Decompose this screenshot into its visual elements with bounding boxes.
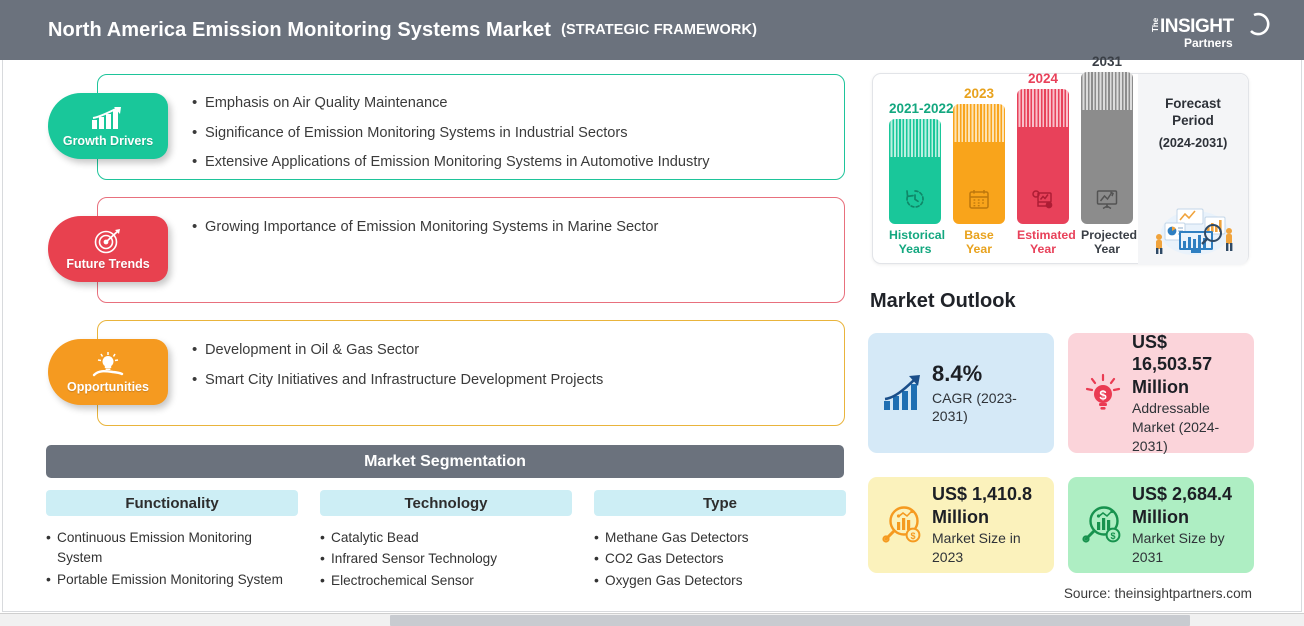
- chart-year-label: 2021-2022: [889, 101, 941, 116]
- future-trends-list: Growing Importance of Emission Monitorin…: [192, 219, 658, 249]
- bar-solid: [953, 142, 1005, 224]
- addressable-market-label: Addressable Market (2024-2031): [1132, 399, 1242, 455]
- svg-text:INSIGHT: INSIGHT: [1160, 16, 1234, 37]
- svg-text:$: $: [1099, 388, 1107, 403]
- clock-history-icon: [903, 187, 927, 216]
- segment-items: Catalytic Bead Infrared Sensor Technolog…: [320, 528, 572, 591]
- svg-text:$: $: [1110, 531, 1115, 541]
- future-trends-box: [97, 197, 845, 303]
- magnifier-bar-chart-dollar-icon: $: [880, 505, 926, 545]
- forecast-title-line2: Period: [1172, 113, 1214, 128]
- infographic-page: North America Emission Monitoring System…: [0, 0, 1304, 626]
- forecast-period-panel: Forecast Period (2024-2031): [1138, 74, 1248, 265]
- bar-stripe: [1081, 72, 1133, 110]
- forecast-range: (2024-2031): [1159, 136, 1228, 150]
- market-size-2031-card[interactable]: $ US$ 2,684.4 Million Market Size by 203…: [1068, 477, 1254, 573]
- badge-label: Opportunities: [67, 380, 149, 394]
- segmentation-title: Market Segmentation: [364, 453, 526, 471]
- bar-solid: [1081, 110, 1133, 224]
- segment-items: Continuous Emission Monitoring System Po…: [46, 528, 298, 590]
- chart-year-label: 2024: [1017, 71, 1069, 86]
- list-item: Methane Gas Detectors: [594, 528, 846, 548]
- list-item: CO2 Gas Detectors: [594, 549, 846, 569]
- chart-bars: 2021-2022 HistoricalYears: [883, 74, 1131, 265]
- bar-chart-growth-icon: [90, 105, 126, 131]
- cagr-card[interactable]: 8.4% CAGR (2023-2031): [868, 333, 1054, 453]
- chart-year-label: 2031: [1081, 54, 1133, 69]
- list-item: Extensive Applications of Emission Monit…: [192, 154, 710, 172]
- market-size-2031-value: US$ 2,684.4 Million: [1132, 484, 1232, 527]
- chart-bar-historical: 2021-2022 HistoricalYears: [889, 101, 941, 257]
- data-analytics-illustration: [1143, 187, 1243, 259]
- badge-label: Future Trends: [66, 257, 149, 271]
- list-item: Smart City Initiatives and Infrastructur…: [192, 372, 603, 390]
- magnifier-bar-chart-dollar-icon: $: [1080, 505, 1126, 545]
- chart-category-label: HistoricalYears: [889, 229, 941, 257]
- list-item: Emphasis on Air Quality Maintenance: [192, 95, 710, 113]
- growth-arrow-chart-icon: [880, 374, 926, 412]
- badge-growth-drivers[interactable]: Growth Drivers: [48, 93, 168, 159]
- segment-header-label: Functionality: [125, 495, 218, 512]
- segment-header: Functionality: [46, 490, 298, 516]
- cagr-text: 8.4% CAGR (2023-2031): [932, 360, 1042, 426]
- segment-header: Type: [594, 490, 846, 516]
- chart-year-label: 2023: [953, 86, 1005, 101]
- chart-bar-projected: 2031 ProjectedYea: [1081, 54, 1133, 257]
- page-subtitle: (STRATEGIC FRAMEWORK): [561, 22, 757, 38]
- bar-stripe: [953, 104, 1005, 142]
- chart-bar-base: 2023: [953, 86, 1005, 257]
- bar-shape: [953, 104, 1005, 224]
- target-dartboard-icon: [93, 228, 123, 254]
- addressable-market-card[interactable]: $ US$ 16,503.57 Million Addressable Mark…: [1068, 333, 1254, 453]
- market-size-2023-card[interactable]: $ US$ 1,410.8 Million Market Size in 202…: [868, 477, 1054, 573]
- market-outlook-title: Market Outlook: [870, 290, 1016, 313]
- growth-drivers-list: Emphasis on Air Quality Maintenance Sign…: [192, 95, 710, 184]
- bar-shape: [1017, 89, 1069, 224]
- list-item: Catalytic Bead: [320, 528, 572, 548]
- scrollbar-thumb[interactable]: [390, 615, 1190, 626]
- bar-stripe: [1017, 89, 1069, 127]
- lightbulb-in-hand-icon: [91, 351, 125, 377]
- svg-text:Partners: Partners: [1184, 36, 1233, 50]
- list-item: Growing Importance of Emission Monitorin…: [192, 219, 658, 237]
- list-item: Development in Oil & Gas Sector: [192, 342, 603, 360]
- dollar-lightbulb-icon: $: [1080, 373, 1126, 413]
- svg-text:$: $: [910, 531, 915, 541]
- forecast-title: Forecast Period: [1165, 96, 1221, 130]
- segment-header-label: Type: [703, 495, 737, 512]
- cagr-label: CAGR (2023-2031): [932, 389, 1042, 426]
- badge-label: Growth Drivers: [63, 134, 153, 148]
- list-item: Infrared Sensor Technology: [320, 549, 572, 569]
- cagr-value: 8.4%: [932, 361, 982, 386]
- market-size-2023-text: US$ 1,410.8 Million Market Size in 2023: [932, 483, 1042, 566]
- bar-solid: [1017, 127, 1069, 224]
- addressable-market-value: US$ 16,503.57 Million: [1132, 332, 1212, 397]
- segment-column-type: Type Methane Gas Detectors CO2 Gas Detec…: [594, 490, 846, 592]
- market-size-2031-text: US$ 2,684.4 Million Market Size by 2031: [1132, 483, 1242, 566]
- chart-bar-estimated: 2024: [1017, 71, 1069, 257]
- market-size-2023-label: Market Size in 2023: [932, 529, 1042, 566]
- list-item: Oxygen Gas Detectors: [594, 571, 846, 591]
- opportunities-list: Development in Oil & Gas Sector Smart Ci…: [192, 342, 603, 401]
- horizontal-scrollbar[interactable]: [0, 613, 1304, 626]
- insight-partners-logo: The INSIGHT Partners: [1144, 10, 1274, 52]
- segment-column-functionality: Functionality Continuous Emission Monito…: [46, 490, 298, 591]
- addressable-market-text: US$ 16,503.57 Million Addressable Market…: [1132, 331, 1242, 455]
- market-size-2031-label: Market Size by 2031: [1132, 529, 1242, 566]
- bar-shape: [1081, 72, 1133, 224]
- source-text: Source: theinsightpartners.com: [1064, 586, 1252, 601]
- list-item: Significance of Emission Monitoring Syst…: [192, 125, 710, 143]
- segment-header-label: Technology: [404, 495, 487, 512]
- bar-solid: [889, 157, 941, 224]
- segment-header: Technology: [320, 490, 572, 516]
- segment-column-technology: Technology Catalytic Bead Infrared Senso…: [320, 490, 572, 592]
- page-title: North America Emission Monitoring System…: [48, 19, 551, 42]
- chart-category-label: BaseYear: [953, 229, 1005, 257]
- chart-category-label: ProjectedYear: [1081, 229, 1133, 257]
- badge-future-trends[interactable]: Future Trends: [48, 216, 168, 282]
- calendar-icon: [967, 187, 991, 216]
- svg-text:The: The: [1151, 17, 1160, 32]
- badge-opportunities[interactable]: Opportunities: [48, 339, 168, 405]
- list-item: Electrochemical Sensor: [320, 571, 572, 591]
- forecast-title-line1: Forecast: [1165, 96, 1221, 111]
- study-period-chart: 2021-2022 HistoricalYears: [872, 73, 1249, 264]
- presentation-chart-icon: [1095, 187, 1120, 216]
- list-item: Continuous Emission Monitoring System: [46, 528, 298, 569]
- chart-category-label: EstimatedYear: [1017, 229, 1069, 257]
- page-header: North America Emission Monitoring System…: [0, 0, 1304, 60]
- bar-stripe: [889, 119, 941, 157]
- market-segmentation-bar: Market Segmentation: [46, 445, 844, 478]
- list-item: Portable Emission Monitoring System: [46, 570, 298, 590]
- bar-shape: [889, 119, 941, 224]
- market-size-2023-value: US$ 1,410.8 Million: [932, 484, 1032, 527]
- segment-items: Methane Gas Detectors CO2 Gas Detectors …: [594, 528, 846, 591]
- gear-chart-icon: [1030, 187, 1056, 216]
